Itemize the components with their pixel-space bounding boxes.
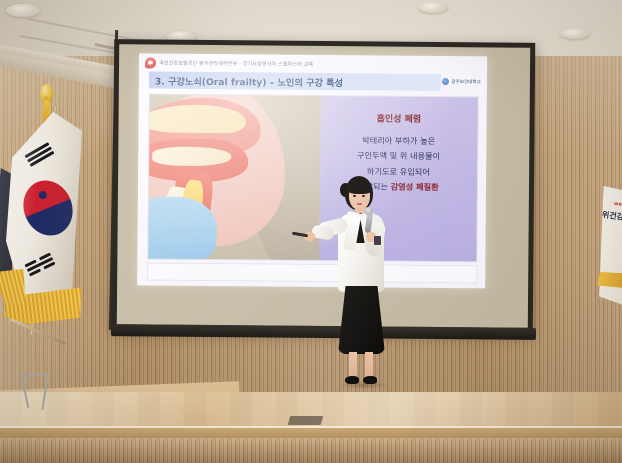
text-panel-heading: 흡인성 폐렴 [377, 111, 422, 124]
presenter-leg [365, 352, 373, 378]
university-emblem-icon [442, 78, 449, 85]
ceiling-downlight [560, 28, 590, 39]
slide-title: 3. 구강노쇠(Oral frailty) – 노인의 구강 특성 [155, 73, 343, 89]
slide-header-text: 국민건강보험공단 광주전라제주본부 - 장기요양종사자 스텝마스터 교육 [159, 60, 313, 68]
lower-floor-shading [0, 438, 622, 463]
university-logo-label: 광주보건대학교 [451, 79, 481, 85]
presenter-mouth [357, 203, 362, 205]
slide-title-bar: 3. 구강노쇠(Oral frailty) – 노인의 구강 특성 [149, 71, 441, 91]
ceiling-downlight [418, 2, 448, 13]
presenter-black-skirt [338, 286, 385, 354]
slide-header: 국민건강보험공단 광주전라제주본부 - 장기요양종사자 스텝마스터 교육 [145, 56, 481, 72]
anatomy-tongue [153, 147, 232, 166]
anatomy-nasal-cavity [148, 104, 245, 133]
slide-footer-band [147, 262, 477, 283]
presenter-shoe [363, 376, 377, 384]
microphone-head [364, 207, 373, 215]
presentation-slide: 국민건강보험공단 광주전라제주본부 - 장기요양종사자 스텝마스터 교육 3. … [137, 53, 487, 288]
presenter [316, 176, 402, 396]
banner-gold-trim [596, 272, 622, 288]
lower-floor-paneling [0, 438, 622, 463]
nhis-logo-icon [145, 57, 156, 68]
photo-scene: 국민건강보험공단 광주전라제주본부 - 장기요양종사자 스텝마스터 교육 3. … [0, 0, 622, 463]
text-panel-line: 박테리아 부하가 높은 [362, 135, 435, 146]
presenter-leg [349, 352, 357, 378]
text-panel-line: 구인두액 및 위 내용물이 [357, 151, 440, 162]
presenter-eye [362, 195, 365, 197]
floor-outlet-cover [288, 416, 324, 425]
presenter-badge [374, 236, 381, 245]
presenter-shoe [345, 376, 359, 384]
ceiling-downlight [6, 4, 40, 17]
university-logo: 광주보건대학교 [442, 78, 481, 85]
presenter-eye [353, 195, 356, 197]
presenter-hair-fringe [347, 182, 372, 194]
